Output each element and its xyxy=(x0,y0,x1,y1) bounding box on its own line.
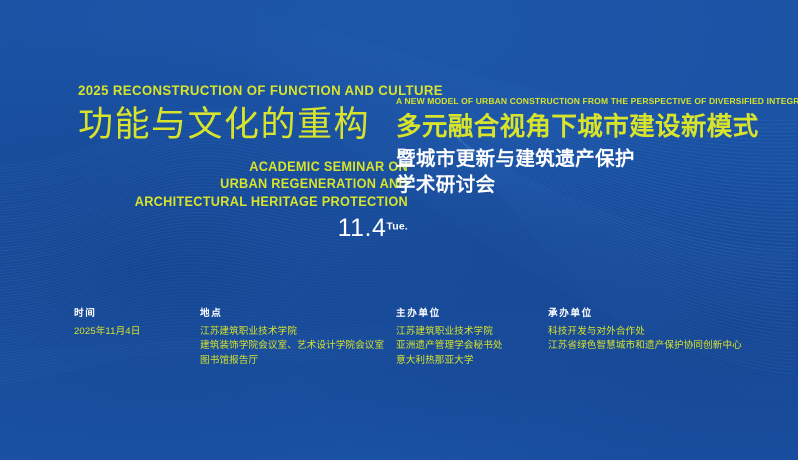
right-chinese-subtitle-line-1: 暨城市更新与建筑遗产保护 xyxy=(396,147,746,173)
right-chinese-subtitle: 暨城市更新与建筑遗产保护 学术研讨会 xyxy=(396,147,746,198)
info-value-organizer-1: 江苏建筑职业技术学院 xyxy=(396,325,548,340)
info-column-co-organizers: 承办单位 科技开发与对外合作处 江苏省绿色智慧城市和遗产保护协同创新中心 xyxy=(548,309,742,368)
info-value-organizer-2: 亚洲遗产管理学会秘书处 xyxy=(396,339,548,354)
info-column-time: 时间 2025年11月4日 xyxy=(74,309,200,368)
event-date: 11.4Tue. xyxy=(78,216,408,241)
headline-subtitle-line-2: URBAN REGENERATION AND xyxy=(95,175,409,193)
info-value-time-date: 2025年11月4日 xyxy=(74,325,200,340)
headline-subtitle-line-1: ACADEMIC SEMINAR ON xyxy=(95,158,409,176)
info-value-organizer-3: 意大利热那亚大学 xyxy=(396,354,548,369)
info-column-venue: 地点 江苏建筑职业技术学院 建筑装饰学院会议室、艺术设计学院会议室 图书馆报告厅 xyxy=(200,309,396,368)
right-chinese-subtitle-line-2: 学术研讨会 xyxy=(396,173,746,199)
event-date-number: 11.4 xyxy=(338,214,387,242)
info-value-venue-1: 江苏建筑职业技术学院 xyxy=(200,325,396,340)
info-heading-time: 时间 xyxy=(74,309,200,319)
right-english-tagline: A NEW MODEL OF URBAN CONSTRUCTION FROM T… xyxy=(396,97,743,106)
right-title-block: A NEW MODEL OF URBAN CONSTRUCTION FROM T… xyxy=(396,97,746,199)
info-value-co-organizer-1: 科技开发与对外合作处 xyxy=(548,325,742,340)
info-heading-co-organizers: 承办单位 xyxy=(548,309,742,319)
info-value-co-organizer-2: 江苏省绿色智慧城市和遗产保护协同创新中心 xyxy=(548,339,742,354)
headline-eyebrow-english: 2025 RECONSTRUCTION OF FUNCTION AND CULT… xyxy=(78,84,385,98)
info-heading-venue: 地点 xyxy=(200,309,396,319)
event-info-row: 时间 2025年11月4日 地点 江苏建筑职业技术学院 建筑装饰学院会议室、艺术… xyxy=(0,309,798,368)
info-heading-organizers: 主办单位 xyxy=(396,309,548,319)
info-column-organizers: 主办单位 江苏建筑职业技术学院 亚洲遗产管理学会秘书处 意大利热那亚大学 xyxy=(396,309,548,368)
headline-subtitle-line-3: ARCHITECTURAL HERITAGE PROTECTION xyxy=(95,193,409,211)
headline-block: 2025 RECONSTRUCTION OF FUNCTION AND CULT… xyxy=(78,84,408,241)
info-value-venue-3: 图书馆报告厅 xyxy=(200,354,396,369)
event-date-weekday: Tue. xyxy=(386,220,408,232)
headline-subtitle-english: ACADEMIC SEMINAR ON URBAN REGENERATION A… xyxy=(95,158,409,211)
poster-canvas: 2025 RECONSTRUCTION OF FUNCTION AND CULT… xyxy=(0,0,798,460)
info-value-venue-2: 建筑装饰学院会议室、艺术设计学院会议室 xyxy=(200,339,396,354)
right-main-chinese-title: 多元融合视角下城市建设新模式 xyxy=(396,113,746,142)
headline-title-chinese: 功能与文化的重构 xyxy=(78,104,408,145)
